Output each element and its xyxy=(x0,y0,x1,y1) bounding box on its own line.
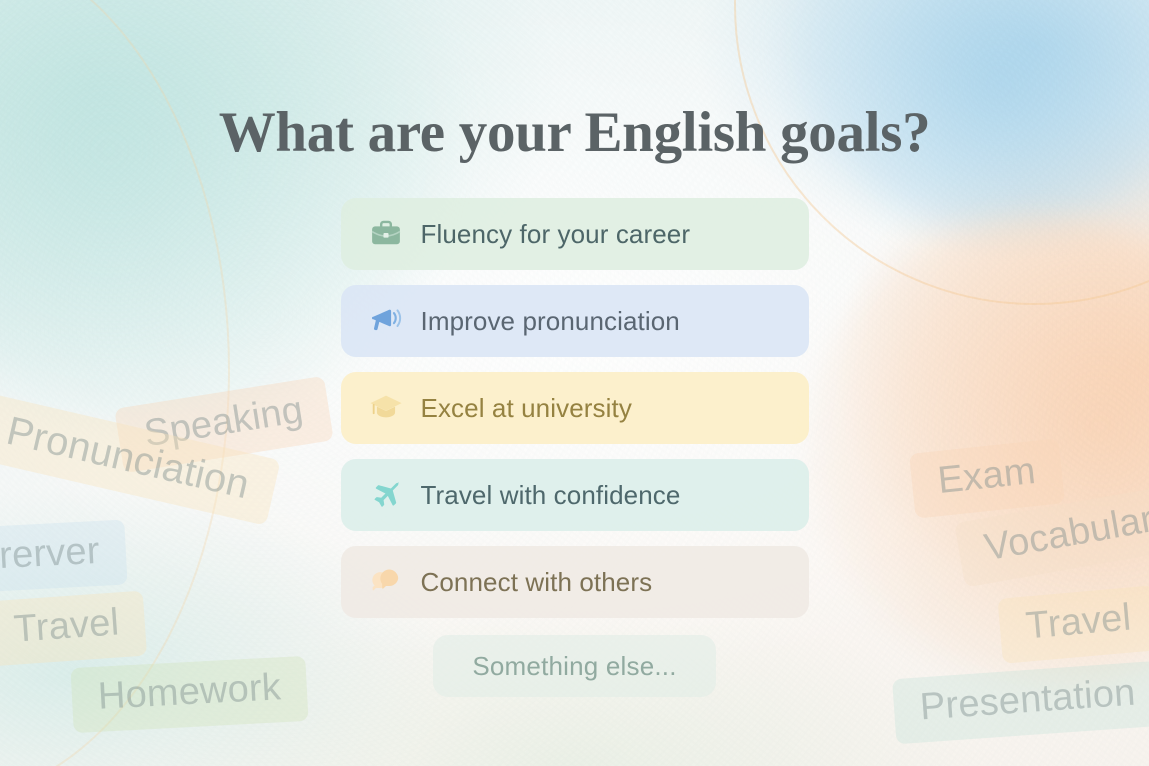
goal-option-label: Excel at university xyxy=(421,395,632,421)
something-else-button[interactable]: Something else... xyxy=(433,635,716,697)
goal-option-travel[interactable]: Travel with confidence xyxy=(341,459,809,531)
goal-option-label: Fluency for your career xyxy=(421,221,691,247)
goal-option-label: Travel with confidence xyxy=(421,482,681,508)
page-title: What are your English goals? xyxy=(219,100,931,165)
goal-option-label: Improve pronunciation xyxy=(421,308,680,334)
goal-option-connect[interactable]: Connect with others xyxy=(341,546,809,618)
goal-option-university[interactable]: Excel at university xyxy=(341,372,809,444)
goal-option-career[interactable]: Fluency for your career xyxy=(341,198,809,270)
briefcase-icon xyxy=(369,217,403,251)
goal-selection-screen: What are your English goals? Fluency for… xyxy=(0,0,1149,766)
megaphone-icon xyxy=(369,304,403,338)
graduation-cap-icon xyxy=(369,391,403,425)
something-else-label: Something else... xyxy=(472,651,676,682)
goal-option-pronunciation[interactable]: Improve pronunciation xyxy=(341,285,809,357)
goal-options-list: Fluency for your career Improve pronunci… xyxy=(341,198,809,618)
airplane-icon xyxy=(369,478,403,512)
goal-option-label: Connect with others xyxy=(421,569,653,595)
speech-bubbles-icon xyxy=(369,565,403,599)
